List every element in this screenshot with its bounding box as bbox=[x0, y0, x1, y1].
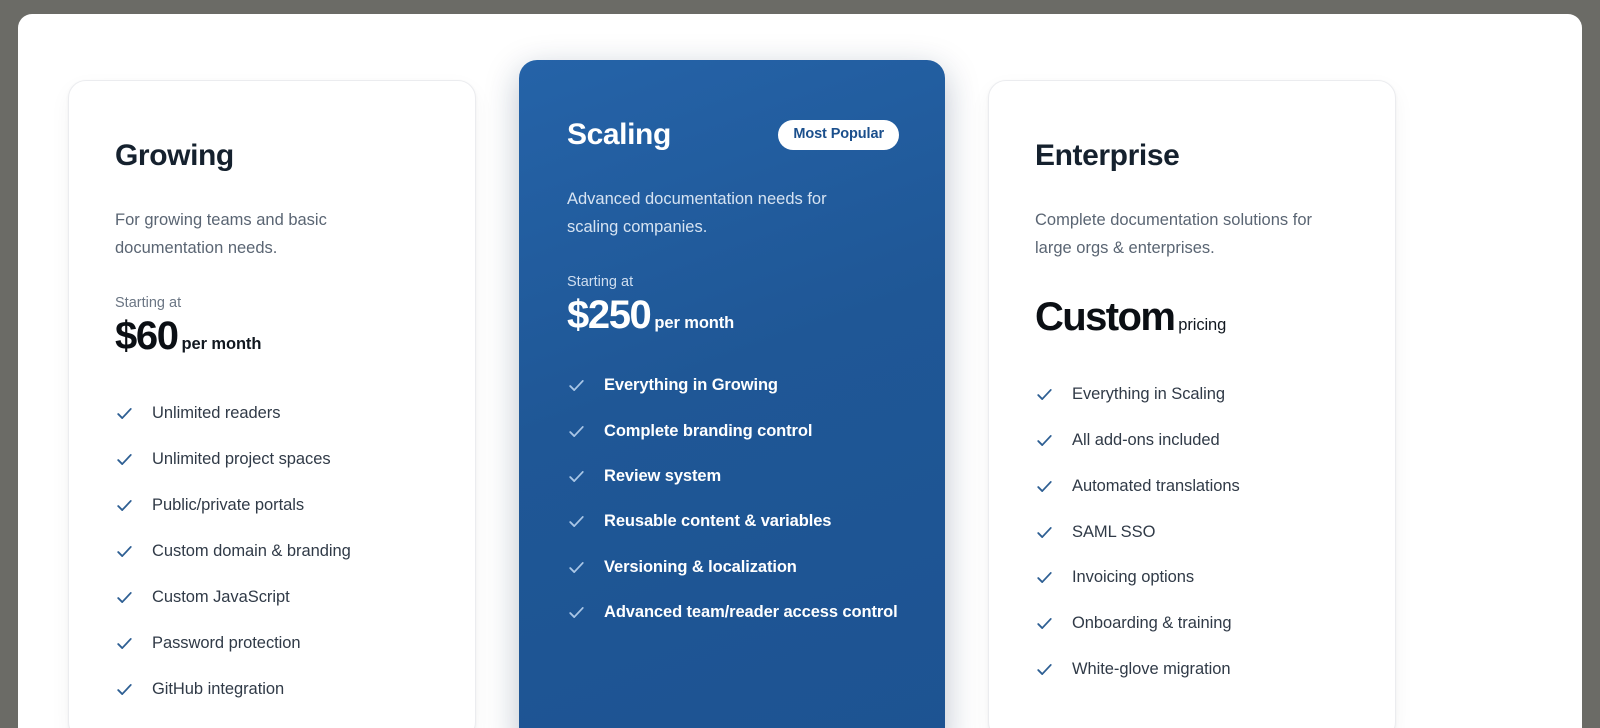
plan-description: For growing teams and basic documentatio… bbox=[115, 206, 415, 263]
card-content: Growing For growing teams and basic docu… bbox=[69, 81, 475, 701]
price-line: $250 per month bbox=[567, 293, 899, 337]
feature-item: Automated translations bbox=[1035, 475, 1349, 498]
check-icon bbox=[567, 603, 586, 622]
price-block: Starting at $250 per month bbox=[567, 274, 899, 337]
feature-label: Custom domain & branding bbox=[152, 540, 351, 563]
plan-description: Complete documentation solutions for lar… bbox=[1035, 206, 1335, 263]
feature-label: Reusable content & variables bbox=[604, 510, 831, 533]
check-icon bbox=[567, 422, 586, 441]
feature-list: Everything in Growing Complete branding … bbox=[567, 374, 899, 625]
plan-title: Enterprise bbox=[1035, 140, 1179, 172]
feature-label: Automated translations bbox=[1072, 475, 1240, 498]
feature-item: Password protection bbox=[115, 632, 429, 655]
feature-list: Everything in Scaling All add-ons includ… bbox=[1035, 383, 1349, 682]
check-icon bbox=[115, 450, 134, 469]
feature-item: Reusable content & variables bbox=[567, 510, 899, 533]
feature-item: Everything in Growing bbox=[567, 374, 899, 397]
card-content: Enterprise Complete documentation soluti… bbox=[989, 81, 1395, 682]
feature-label: Versioning & localization bbox=[604, 556, 797, 579]
check-icon bbox=[1035, 660, 1054, 679]
feature-label: GitHub integration bbox=[152, 678, 284, 701]
feature-label: Custom JavaScript bbox=[152, 586, 290, 609]
card-content: Scaling Most Popular Advanced documentat… bbox=[519, 60, 945, 625]
feature-item: SAML SSO bbox=[1035, 521, 1349, 544]
feature-label: Review system bbox=[604, 465, 721, 488]
price-period: pricing bbox=[1178, 316, 1226, 335]
price-line: Custom pricing bbox=[1035, 295, 1349, 339]
feature-item: Custom JavaScript bbox=[115, 586, 429, 609]
check-icon bbox=[567, 376, 586, 395]
feature-label: SAML SSO bbox=[1072, 521, 1155, 544]
check-icon bbox=[567, 558, 586, 577]
card-header: Growing bbox=[115, 137, 429, 175]
feature-list: Unlimited readers Unlimited project spac… bbox=[115, 402, 429, 701]
check-icon bbox=[1035, 431, 1054, 450]
feature-label: Password protection bbox=[152, 632, 301, 655]
feature-item: Invoicing options bbox=[1035, 566, 1349, 589]
feature-item: Complete branding control bbox=[567, 420, 899, 443]
feature-label: Advanced team/reader access control bbox=[604, 601, 898, 624]
feature-item: Unlimited readers bbox=[115, 402, 429, 425]
check-icon bbox=[567, 467, 586, 486]
check-icon bbox=[115, 588, 134, 607]
most-popular-badge: Most Popular bbox=[778, 120, 899, 150]
feature-label: Invoicing options bbox=[1072, 566, 1194, 589]
card-header: Scaling Most Popular bbox=[567, 116, 899, 154]
price-block: Custom pricing bbox=[1035, 295, 1349, 339]
feature-label: All add-ons included bbox=[1072, 429, 1220, 452]
price-amount: $60 bbox=[115, 314, 178, 358]
feature-item: All add-ons included bbox=[1035, 429, 1349, 452]
check-icon bbox=[1035, 477, 1054, 496]
price-amount: $250 bbox=[567, 293, 650, 337]
plan-title: Growing bbox=[115, 140, 234, 172]
check-icon bbox=[567, 512, 586, 531]
price-line: $60 per month bbox=[115, 314, 429, 358]
pricing-card-scaling[interactable]: Scaling Most Popular Advanced documentat… bbox=[519, 60, 945, 728]
feature-label: Unlimited project spaces bbox=[152, 448, 331, 471]
feature-item: Versioning & localization bbox=[567, 556, 899, 579]
feature-label: Onboarding & training bbox=[1072, 612, 1231, 635]
price-period: per month bbox=[182, 335, 262, 354]
check-icon bbox=[115, 680, 134, 699]
feature-label: Everything in Growing bbox=[604, 374, 778, 397]
pricing-card-enterprise[interactable]: Enterprise Complete documentation soluti… bbox=[988, 80, 1396, 728]
price-prefix: Starting at bbox=[115, 295, 429, 312]
feature-item: Review system bbox=[567, 465, 899, 488]
feature-item: Unlimited project spaces bbox=[115, 448, 429, 471]
card-header: Enterprise bbox=[1035, 137, 1349, 175]
price-prefix: Starting at bbox=[567, 274, 899, 291]
page-surface: Growing For growing teams and basic docu… bbox=[18, 14, 1582, 728]
check-icon bbox=[1035, 523, 1054, 542]
price-amount: Custom bbox=[1035, 295, 1174, 339]
feature-item: Custom domain & branding bbox=[115, 540, 429, 563]
plan-description: Advanced documentation needs for scaling… bbox=[567, 185, 879, 242]
check-icon bbox=[115, 542, 134, 561]
check-icon bbox=[1035, 614, 1054, 633]
feature-label: Public/private portals bbox=[152, 494, 304, 517]
pricing-card-grid: Growing For growing teams and basic docu… bbox=[18, 14, 1582, 728]
feature-item: Public/private portals bbox=[115, 494, 429, 517]
feature-item: Everything in Scaling bbox=[1035, 383, 1349, 406]
feature-label: Complete branding control bbox=[604, 420, 812, 443]
price-block: Starting at $60 per month bbox=[115, 295, 429, 358]
feature-label: Everything in Scaling bbox=[1072, 383, 1225, 406]
feature-label: Unlimited readers bbox=[152, 402, 280, 425]
feature-item: Advanced team/reader access control bbox=[567, 601, 899, 624]
pricing-card-growing[interactable]: Growing For growing teams and basic docu… bbox=[68, 80, 476, 728]
feature-item: GitHub integration bbox=[115, 678, 429, 701]
feature-item: Onboarding & training bbox=[1035, 612, 1349, 635]
plan-title: Scaling bbox=[567, 119, 671, 151]
feature-label: White-glove migration bbox=[1072, 658, 1231, 681]
check-icon bbox=[1035, 385, 1054, 404]
feature-item: White-glove migration bbox=[1035, 658, 1349, 681]
check-icon bbox=[115, 496, 134, 515]
check-icon bbox=[115, 404, 134, 423]
price-period: per month bbox=[654, 314, 734, 333]
check-icon bbox=[1035, 568, 1054, 587]
check-icon bbox=[115, 634, 134, 653]
